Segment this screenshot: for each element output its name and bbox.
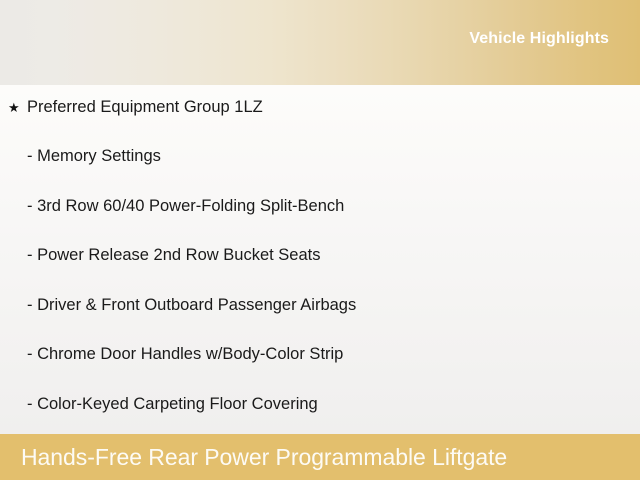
list-item: ★ Preferred Equipment Group 1LZ — [0, 97, 640, 117]
list-item: - Memory Settings — [0, 146, 640, 166]
star-bullet-icon: ★ — [8, 101, 27, 114]
list-item-label: - Power Release 2nd Row Bucket Seats — [27, 245, 320, 265]
list-item: - Chrome Door Handles w/Body-Color Strip — [0, 344, 640, 364]
header-band: Vehicle Highlights — [0, 0, 640, 85]
list-item-label: - Color-Keyed Carpeting Floor Covering — [27, 394, 318, 414]
list-item-label: - 3rd Row 60/40 Power-Folding Split-Benc… — [27, 196, 344, 216]
list-item-label: - Memory Settings — [27, 146, 161, 166]
list-item: - Color-Keyed Carpeting Floor Covering — [0, 394, 640, 414]
footer-banner: Hands-Free Rear Power Programmable Liftg… — [0, 434, 640, 480]
list-item-label: - Chrome Door Handles w/Body-Color Strip — [27, 344, 343, 364]
list-item: - Driver & Front Outboard Passenger Airb… — [0, 295, 640, 315]
list-item-label: Preferred Equipment Group 1LZ — [27, 97, 263, 117]
highlights-list: ★ Preferred Equipment Group 1LZ - Memory… — [0, 85, 640, 434]
page-title: Vehicle Highlights — [469, 30, 609, 48]
footer-headline: Hands-Free Rear Power Programmable Liftg… — [21, 444, 507, 471]
vehicle-highlights-slide: Vehicle Highlights ★ Preferred Equipment… — [0, 0, 640, 480]
list-item: - 3rd Row 60/40 Power-Folding Split-Benc… — [0, 196, 640, 216]
list-item-label: - Driver & Front Outboard Passenger Airb… — [27, 295, 356, 315]
list-item: - Power Release 2nd Row Bucket Seats — [0, 245, 640, 265]
